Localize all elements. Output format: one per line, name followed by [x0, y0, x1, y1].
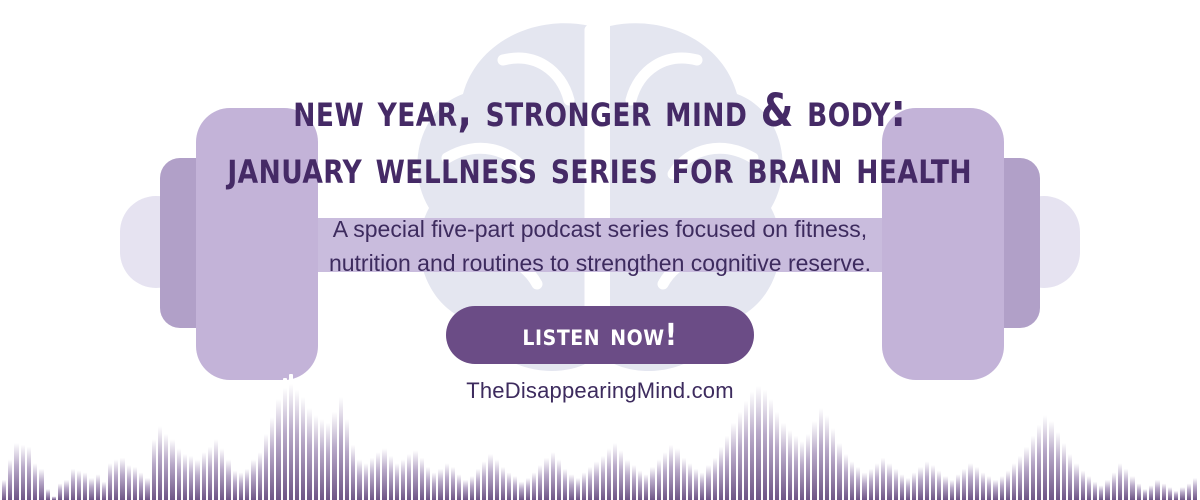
- waveform-bar: [2, 478, 6, 500]
- waveform-bar: [1193, 476, 1197, 500]
- waveform-bar: [1068, 450, 1072, 500]
- waveform-bar: [625, 456, 629, 500]
- waveform-bar: [426, 464, 430, 500]
- headline-line-2: January Wellness Series for Brain Health: [228, 139, 973, 196]
- waveform-bar: [432, 470, 436, 500]
- waveform-bar: [931, 462, 935, 500]
- waveform-bar: [738, 404, 742, 500]
- waveform-bar: [158, 420, 162, 500]
- waveform-bar: [1112, 470, 1116, 500]
- waveform-bar: [476, 466, 480, 500]
- waveform-bar: [133, 464, 137, 500]
- waveform-bar: [1174, 490, 1178, 500]
- waveform-bar: [1187, 482, 1191, 500]
- waveform-bar: [64, 478, 68, 500]
- waveform-bar: [993, 478, 997, 500]
- waveform-bar: [152, 434, 156, 500]
- waveform-bar: [950, 478, 954, 500]
- waveform-bar: [613, 438, 617, 500]
- waveform-bar: [669, 440, 673, 500]
- waveform-bar: [270, 410, 274, 500]
- waveform-bar: [538, 462, 542, 500]
- waveform-bar: [526, 476, 530, 500]
- waveform-bar: [52, 496, 56, 500]
- waveform-bar: [694, 466, 698, 500]
- waveform-bar: [775, 404, 779, 500]
- waveform-bar: [756, 376, 760, 500]
- waveform-bar: [445, 460, 449, 500]
- waveform-bar: [189, 452, 193, 500]
- waveform-bar: [1168, 486, 1172, 500]
- waveform-bar: [800, 436, 804, 500]
- waveform-bar: [657, 456, 661, 500]
- waveform-bar: [1180, 486, 1184, 500]
- waveform-bar: [108, 460, 112, 500]
- waveform-bar: [501, 464, 505, 500]
- waveform-bar: [46, 488, 50, 500]
- waveform-bar: [1012, 460, 1016, 500]
- waveform-bar: [376, 448, 380, 500]
- waveform-bar: [632, 462, 636, 500]
- waveform-bar: [987, 474, 991, 500]
- waveform-bar: [912, 470, 916, 500]
- waveform-bar: [513, 474, 517, 500]
- waveform-bar: [245, 466, 249, 500]
- waveform-bar: [264, 428, 268, 500]
- waveform-bar: [370, 454, 374, 500]
- waveform-bar: [382, 444, 386, 500]
- waveform-bar: [763, 380, 767, 500]
- waveform-bar: [251, 456, 255, 500]
- waveform-bar: [918, 464, 922, 500]
- waveform-bar: [145, 476, 149, 500]
- waveform-bar: [594, 458, 598, 500]
- waveform-bar: [519, 480, 523, 500]
- waveform-bar: [962, 466, 966, 500]
- waveform-bar: [96, 472, 100, 500]
- waveform-bar: [276, 390, 280, 500]
- waveform-bar: [1118, 460, 1122, 500]
- waveform-bar: [1043, 408, 1047, 500]
- waveform-bar: [769, 390, 773, 500]
- subtitle-line-2: nutrition and routines to strengthen cog…: [329, 246, 871, 280]
- waveform-bar: [214, 434, 218, 500]
- waveform-bar: [650, 464, 654, 500]
- waveform-bar: [837, 438, 841, 500]
- waveform-bar: [420, 454, 424, 500]
- waveform-bar: [202, 448, 206, 500]
- waveform-bar: [451, 464, 455, 500]
- waveform-bar: [900, 472, 904, 500]
- waveform-bar: [968, 460, 972, 500]
- waveform-bar: [357, 456, 361, 500]
- waveform-bar: [956, 472, 960, 500]
- waveform-bar: [806, 428, 810, 500]
- waveform-bar: [139, 470, 143, 500]
- waveform-bar: [114, 456, 118, 500]
- waveform-bar: [638, 468, 642, 500]
- waveform-bar: [569, 472, 573, 500]
- waveform-bar: [1062, 438, 1066, 500]
- waveform-bar: [170, 434, 174, 500]
- waveform-bar: [875, 460, 879, 500]
- waveform-bar: [788, 424, 792, 500]
- waveform-bar: [320, 412, 324, 500]
- waveform-bar: [619, 446, 623, 500]
- waveform-bar: [77, 468, 81, 500]
- waveform-bar: [744, 392, 748, 500]
- waveform-bar: [862, 470, 866, 500]
- headline-line-1: New Year, Stronger Mind & Body:: [228, 82, 973, 139]
- waveform-bar: [943, 474, 947, 500]
- waveform-bar: [295, 380, 299, 500]
- waveform-bar: [364, 460, 368, 500]
- waveform-bar: [937, 468, 941, 500]
- waveform-bar: [887, 460, 891, 500]
- waveform-bar: [314, 408, 318, 500]
- waveform-bar: [258, 448, 262, 500]
- waveform-bar: [557, 456, 561, 500]
- waveform-bar: [8, 456, 12, 500]
- waveform-bar: [1000, 474, 1004, 500]
- waveform-bar: [1155, 478, 1159, 500]
- waveform-bar: [301, 388, 305, 500]
- waveform-bar: [1087, 474, 1091, 500]
- waveform-bar: [345, 412, 349, 500]
- waveform-bar: [21, 440, 25, 500]
- waveform-bar: [401, 456, 405, 500]
- waveform-bar: [226, 456, 230, 500]
- waveform-bar: [1006, 468, 1010, 500]
- waveform-bar: [856, 464, 860, 500]
- waveform-bar: [713, 454, 717, 500]
- waveform-bar: [975, 464, 979, 500]
- waveform-bar: [351, 440, 355, 500]
- waveform-bar: [58, 482, 62, 500]
- waveform-bar: [1105, 478, 1109, 500]
- waveform-bar: [127, 462, 131, 500]
- waveform-bar: [844, 450, 848, 500]
- waveform-bar: [794, 430, 798, 500]
- waveform-bar: [1137, 482, 1141, 500]
- waveform-bar: [750, 382, 754, 500]
- waveform-bar: [688, 460, 692, 500]
- waveform-bar: [326, 416, 330, 500]
- waveform-bar: [831, 422, 835, 500]
- waveform-bar: [825, 408, 829, 500]
- waveform-bar: [1093, 480, 1097, 500]
- listen-now-button[interactable]: Listen now!: [446, 306, 754, 364]
- waveform-bar: [675, 444, 679, 500]
- waveform-bar: [283, 378, 287, 500]
- waveform-bar: [120, 454, 124, 500]
- waveform-bar: [488, 450, 492, 500]
- waveform-bar: [1081, 468, 1085, 500]
- waveform-bar: [532, 470, 536, 500]
- waveform-bar: [470, 474, 474, 500]
- waveform-bar: [1143, 488, 1147, 500]
- page-title: New Year, Stronger Mind & Body: January …: [228, 0, 973, 196]
- waveform-bar: [644, 472, 648, 500]
- waveform-bar: [407, 450, 411, 500]
- waveform-bar: [83, 470, 87, 500]
- waveform-bar: [463, 478, 467, 500]
- waveform-bar: [869, 466, 873, 500]
- waveform-bar: [812, 414, 816, 500]
- waveform-bar: [14, 438, 18, 500]
- waveform-bar: [33, 460, 37, 500]
- waveform-bar: [89, 476, 93, 500]
- waveform-bar: [332, 404, 336, 500]
- waveform-bar: [507, 470, 511, 500]
- waveform-bar: [289, 374, 293, 500]
- waveform-bar: [195, 456, 199, 500]
- waveform-bar: [682, 454, 686, 500]
- waveform-bar: [1049, 414, 1053, 500]
- waveform-bar: [438, 466, 442, 500]
- subtitle: A special five-part podcast series focus…: [329, 196, 871, 280]
- waveform-bar: [1124, 466, 1128, 500]
- waveform-bar: [164, 428, 168, 500]
- waveform-bar: [239, 470, 243, 500]
- waveform-bar: [725, 430, 729, 500]
- waveform-bar: [39, 466, 43, 500]
- waveform-bar: [208, 442, 212, 500]
- waveform-bar: [1149, 484, 1153, 500]
- waveform-bar: [607, 444, 611, 500]
- subtitle-line-1: A special five-part podcast series focus…: [329, 212, 871, 246]
- waveform-bar: [906, 476, 910, 500]
- waveform-bar: [1099, 484, 1103, 500]
- waveform-bar: [981, 470, 985, 500]
- waveform-bar: [925, 458, 929, 500]
- waveform-bar: [819, 400, 823, 500]
- waveform-bar: [339, 388, 343, 500]
- waveform-bar: [177, 444, 181, 500]
- waveform-bar: [894, 466, 898, 500]
- podcast-promo-banner: New Year, Stronger Mind & Body: January …: [0, 0, 1200, 500]
- waveform-bar: [576, 476, 580, 500]
- waveform-bar: [563, 466, 567, 500]
- waveform-bar: [1031, 430, 1035, 500]
- waveform-bar: [1024, 442, 1028, 500]
- waveform-bar: [71, 466, 75, 500]
- waveform-bar: [601, 452, 605, 500]
- waveform-bar: [781, 416, 785, 500]
- waveform-bar: [495, 456, 499, 500]
- waveform-bar: [220, 444, 224, 500]
- waveform-bar: [413, 446, 417, 500]
- waveform-bar: [582, 470, 586, 500]
- waveform-bar: [233, 468, 237, 500]
- waveform-bar: [389, 452, 393, 500]
- waveform-bar: [588, 464, 592, 500]
- waveform-bar: [395, 460, 399, 500]
- audio-waveform: [0, 370, 1200, 500]
- waveform-bar: [700, 470, 704, 500]
- waveform-bar: [27, 442, 31, 500]
- waveform-bar: [663, 448, 667, 500]
- waveform-bar: [706, 462, 710, 500]
- waveform-bar: [1162, 482, 1166, 500]
- waveform-bar: [551, 448, 555, 500]
- waveform-bar: [850, 458, 854, 500]
- waveform-bar: [881, 454, 885, 500]
- waveform-bar: [719, 442, 723, 500]
- waveform-bar: [102, 480, 106, 500]
- waveform-bar: [183, 450, 187, 500]
- waveform-bar: [1018, 452, 1022, 500]
- waveform-bar: [482, 458, 486, 500]
- waveform-bar: [1037, 418, 1041, 500]
- waveform-bar: [544, 454, 548, 500]
- waveform-bar: [1056, 426, 1060, 500]
- waveform-bar: [307, 400, 311, 500]
- waveform-bar: [457, 472, 461, 500]
- waveform-bar: [1074, 460, 1078, 500]
- waveform-bar: [1130, 474, 1134, 500]
- waveform-bar: [731, 416, 735, 500]
